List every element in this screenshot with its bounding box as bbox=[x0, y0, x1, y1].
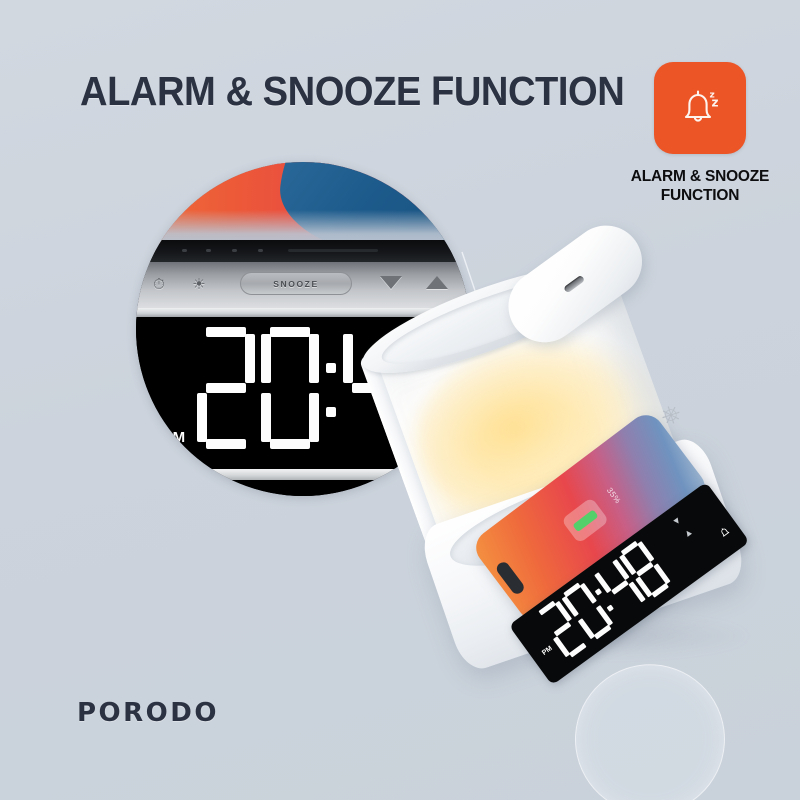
usb-c-port-icon bbox=[563, 275, 585, 294]
badge-caption: ALARM & SNOOZE FUNCTION bbox=[631, 168, 769, 206]
product-photo: ⎈ 35% PM bbox=[415, 250, 800, 700]
brand-logo: PORODO bbox=[77, 698, 219, 728]
badge-caption-line1: ALARM & SNOOZE bbox=[631, 168, 769, 187]
svg-text:z: z bbox=[712, 96, 719, 110]
phone-notch bbox=[494, 560, 526, 597]
wallpaper-fade bbox=[136, 210, 470, 244]
product-lens-circle bbox=[555, 644, 746, 800]
chevron-down-icon[interactable] bbox=[380, 276, 402, 289]
battery-charging-icon bbox=[561, 497, 609, 544]
device-meridiem: PM bbox=[541, 645, 554, 657]
battery-fill bbox=[572, 509, 598, 532]
led-digit-2 bbox=[197, 327, 255, 449]
alarm-clock-icon[interactable]: ⏱ bbox=[148, 273, 170, 295]
feature-badge: z z ALARM & SNOOZE FUNCTION bbox=[623, 62, 777, 206]
badge-tile: z z bbox=[654, 62, 746, 154]
badge-caption-line2: FUNCTION bbox=[631, 187, 769, 206]
led-digit-0 bbox=[261, 327, 319, 449]
page-title: ALARM & SNOOZE FUNCTION bbox=[80, 68, 624, 115]
battery-percent: 35% bbox=[605, 486, 623, 505]
snooze-button[interactable]: SNOOZE bbox=[240, 272, 352, 295]
bell-snooze-icon: z z bbox=[674, 82, 726, 134]
led-colon bbox=[323, 327, 339, 449]
meridiem-indicator: PM bbox=[162, 429, 186, 446]
brightness-sun-icon[interactable]: ☀ bbox=[188, 273, 210, 295]
phone-wallpaper-sliver bbox=[136, 162, 470, 244]
marketing-slide: ALARM & SNOOZE FUNCTION z z ALARM & SNOO… bbox=[0, 0, 800, 800]
